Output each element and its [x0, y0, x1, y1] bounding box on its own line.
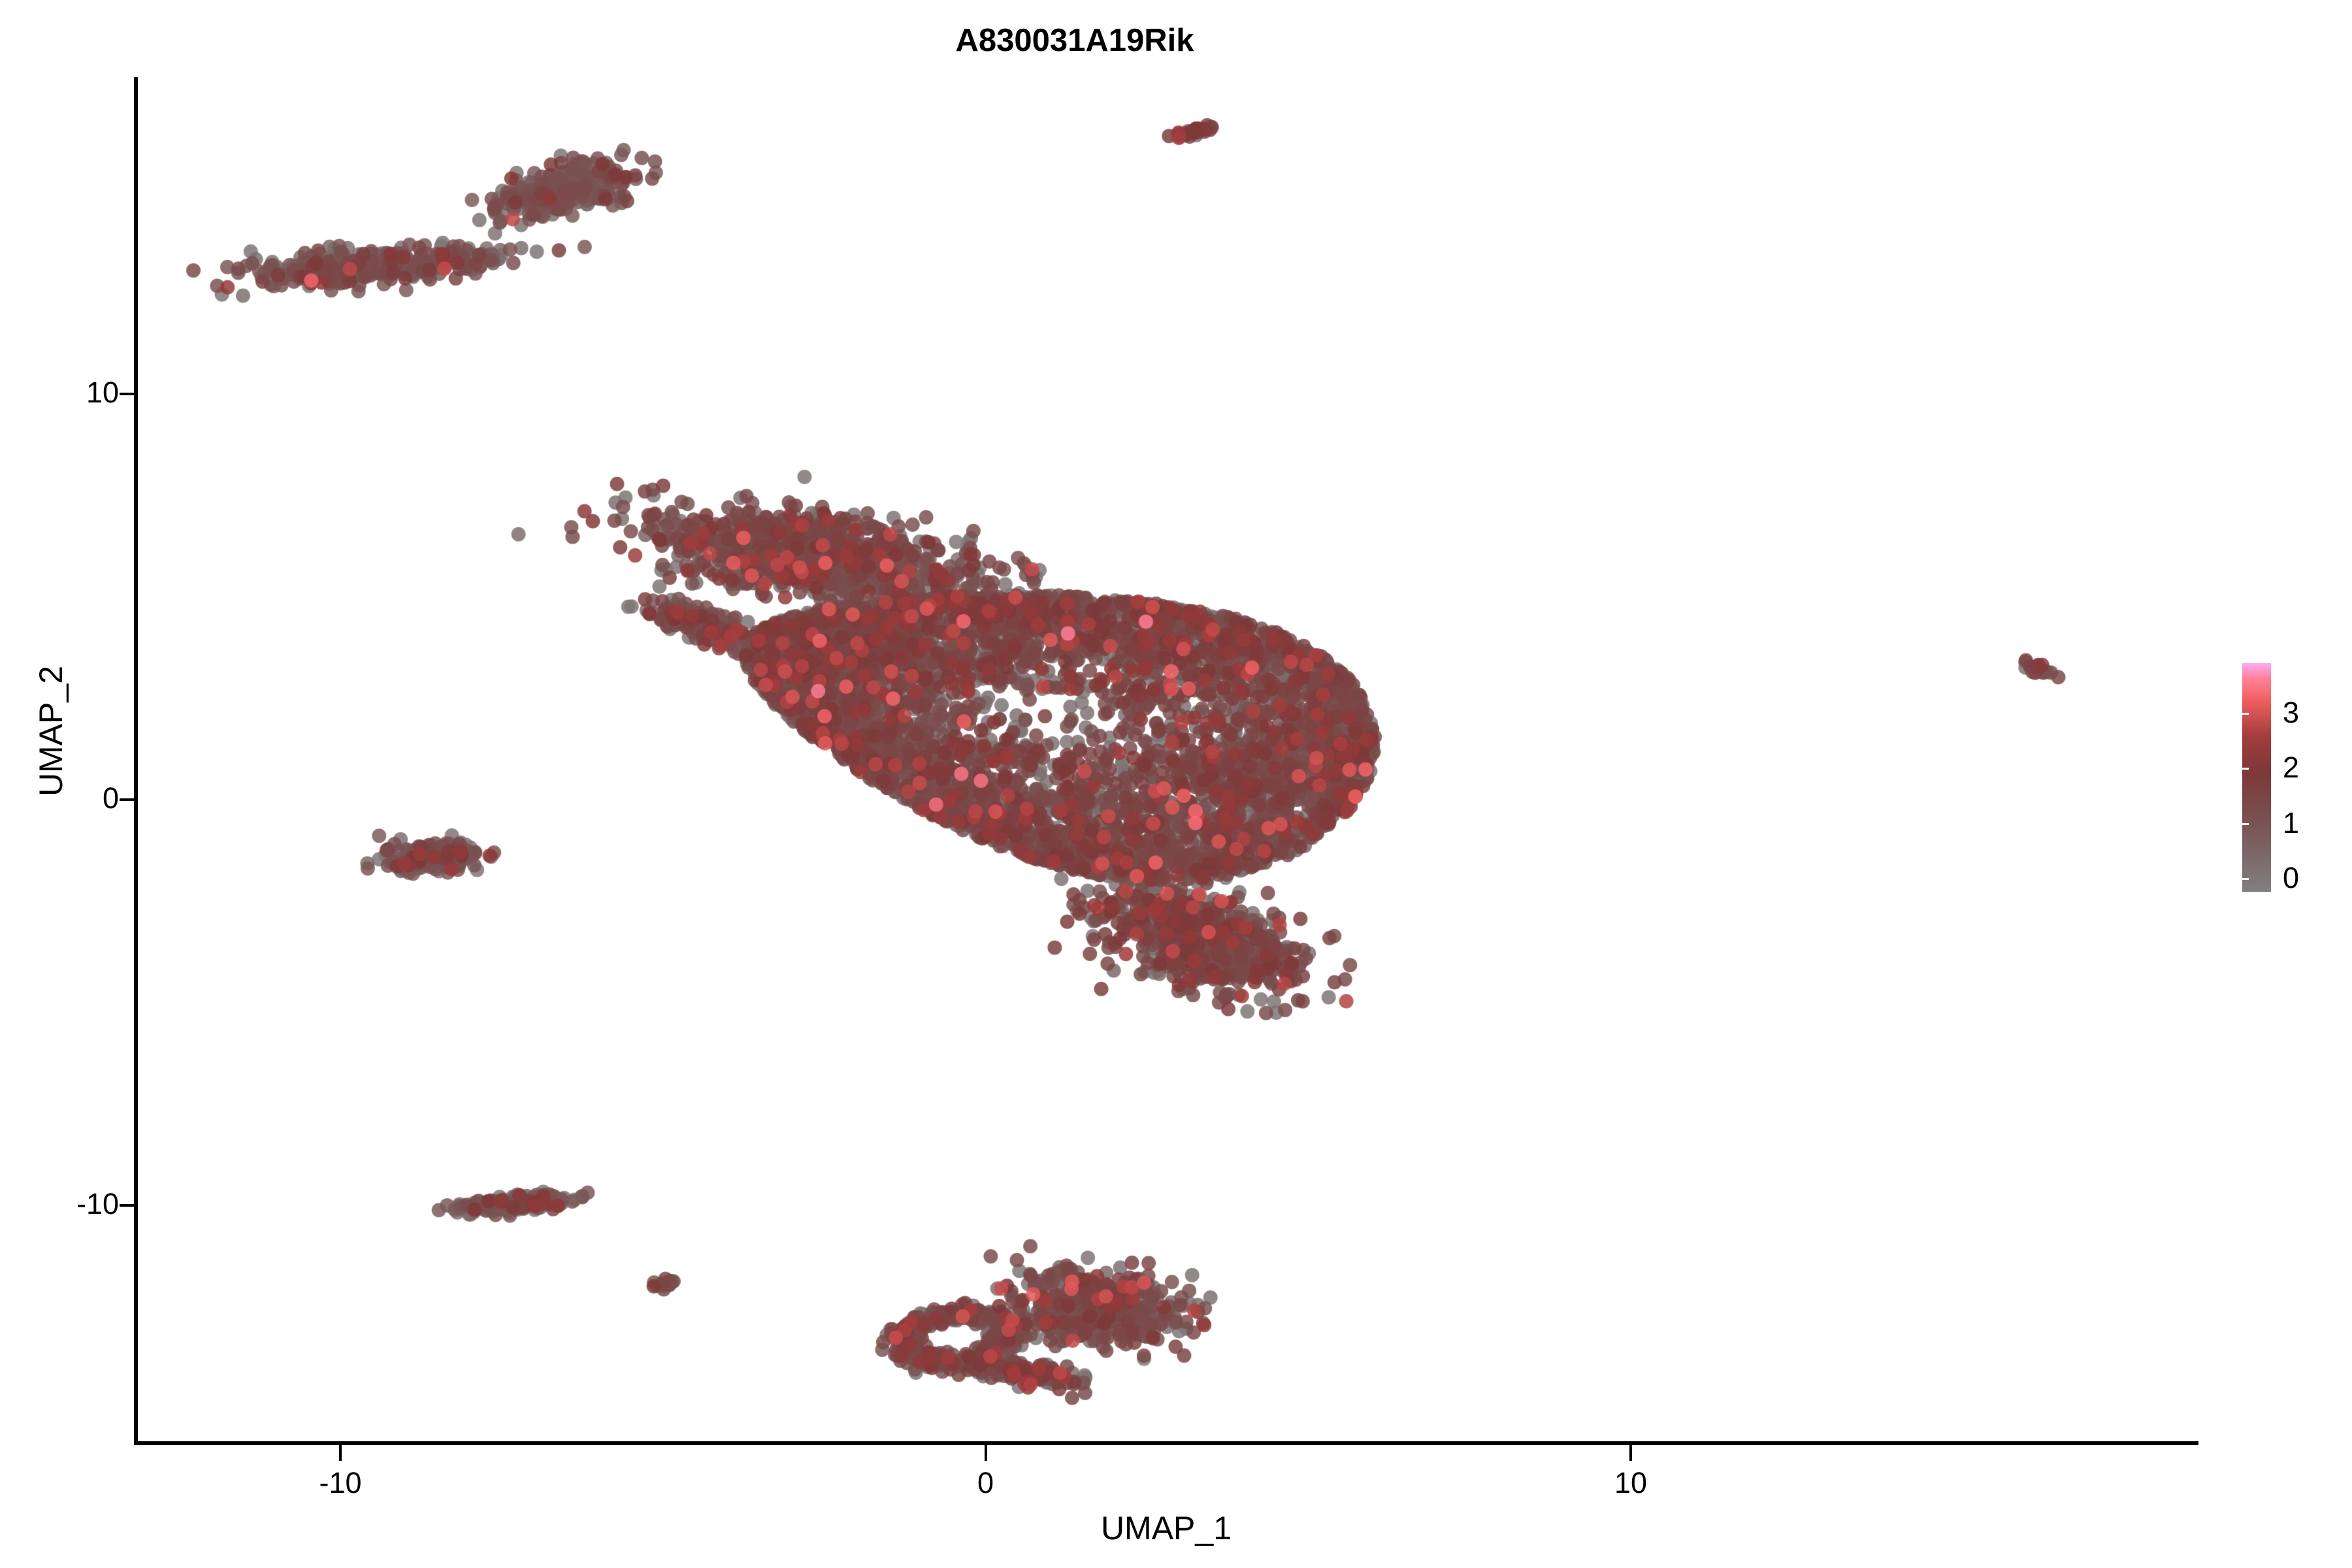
x-tick-mark — [339, 1445, 342, 1461]
y-tick-mark — [120, 393, 134, 395]
colorbar-tick-mark — [2334, 768, 2340, 770]
umap-feature-plot: A830031A19Rik 100-10 -10010 UMAP_1 UMAP_… — [0, 0, 2352, 1568]
colorbar-tick-mark — [2242, 713, 2249, 715]
x-axis-line — [134, 1441, 2198, 1445]
colorbar-tick-mark — [2334, 878, 2340, 880]
colorbar-legend: 3210 — [2242, 663, 2340, 892]
y-tick-label: 0 — [103, 781, 119, 815]
scatter-canvas — [134, 77, 2198, 1445]
colorbar-tick-mark — [2242, 878, 2249, 880]
y-axis-title: UMAP_2 — [32, 535, 70, 927]
y-tick-label: 10 — [86, 376, 119, 410]
colorbar-gradient — [2242, 663, 2271, 892]
y-tick-label: -10 — [76, 1187, 119, 1221]
colorbar-tick-label: 2 — [2283, 751, 2299, 785]
x-tick-label: 0 — [977, 1466, 994, 1500]
y-tick-mark — [120, 1204, 134, 1207]
colorbar-tick-mark — [2334, 713, 2340, 715]
x-tick-label: -10 — [319, 1466, 361, 1500]
colorbar-tick-mark — [2334, 823, 2340, 825]
colorbar-tick-label: 3 — [2283, 696, 2299, 730]
colorbar-tick-mark — [2242, 823, 2249, 825]
page-title: A830031A19Rik — [0, 22, 2149, 59]
y-axis-line — [134, 77, 138, 1445]
x-axis-title: UMAP_1 — [134, 1509, 2198, 1547]
colorbar-tick-mark — [2242, 768, 2249, 770]
y-tick-mark — [120, 798, 134, 801]
colorbar-tick-label: 0 — [2283, 861, 2299, 895]
x-tick-mark — [1629, 1445, 1632, 1461]
plot-panel — [134, 77, 2198, 1445]
x-tick-mark — [985, 1445, 987, 1461]
colorbar-tick-label: 1 — [2283, 806, 2299, 840]
x-tick-label: 10 — [1614, 1466, 1647, 1500]
